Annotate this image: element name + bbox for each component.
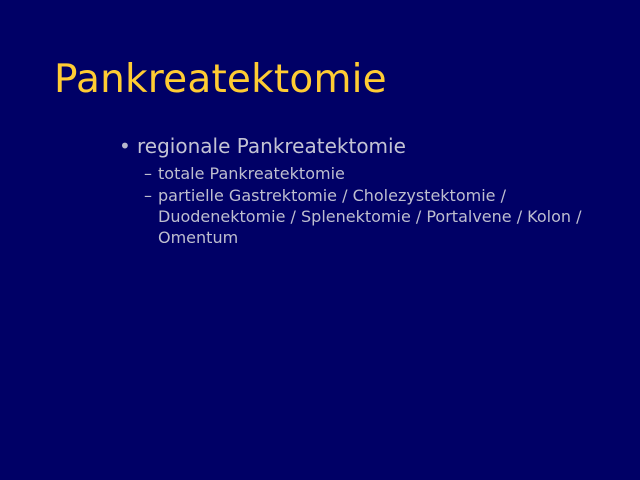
presentation-slide: Pankreatektomie • regionale Pankreatekto… [0, 0, 640, 480]
list-item: • regionale Pankreatektomie [0, 133, 640, 159]
slide-body-outline: • regionale Pankreatektomie – totale Pan… [0, 133, 640, 249]
bullet-dash-icon: – [144, 163, 158, 184]
list-item: – partielle Gastrektomie / Cholezystekto… [0, 185, 640, 248]
bullet-dot-icon: • [119, 133, 133, 159]
list-item-label: regionale Pankreatektomie [137, 134, 406, 158]
bullet-dash-icon: – [144, 185, 158, 206]
list-item-label: totale Pankreatektomie [158, 163, 590, 184]
list-item-label: partielle Gastrektomie / Cholezystektomi… [158, 185, 590, 248]
page-title: Pankreatektomie [54, 57, 594, 103]
list-item: – totale Pankreatektomie [0, 163, 640, 184]
